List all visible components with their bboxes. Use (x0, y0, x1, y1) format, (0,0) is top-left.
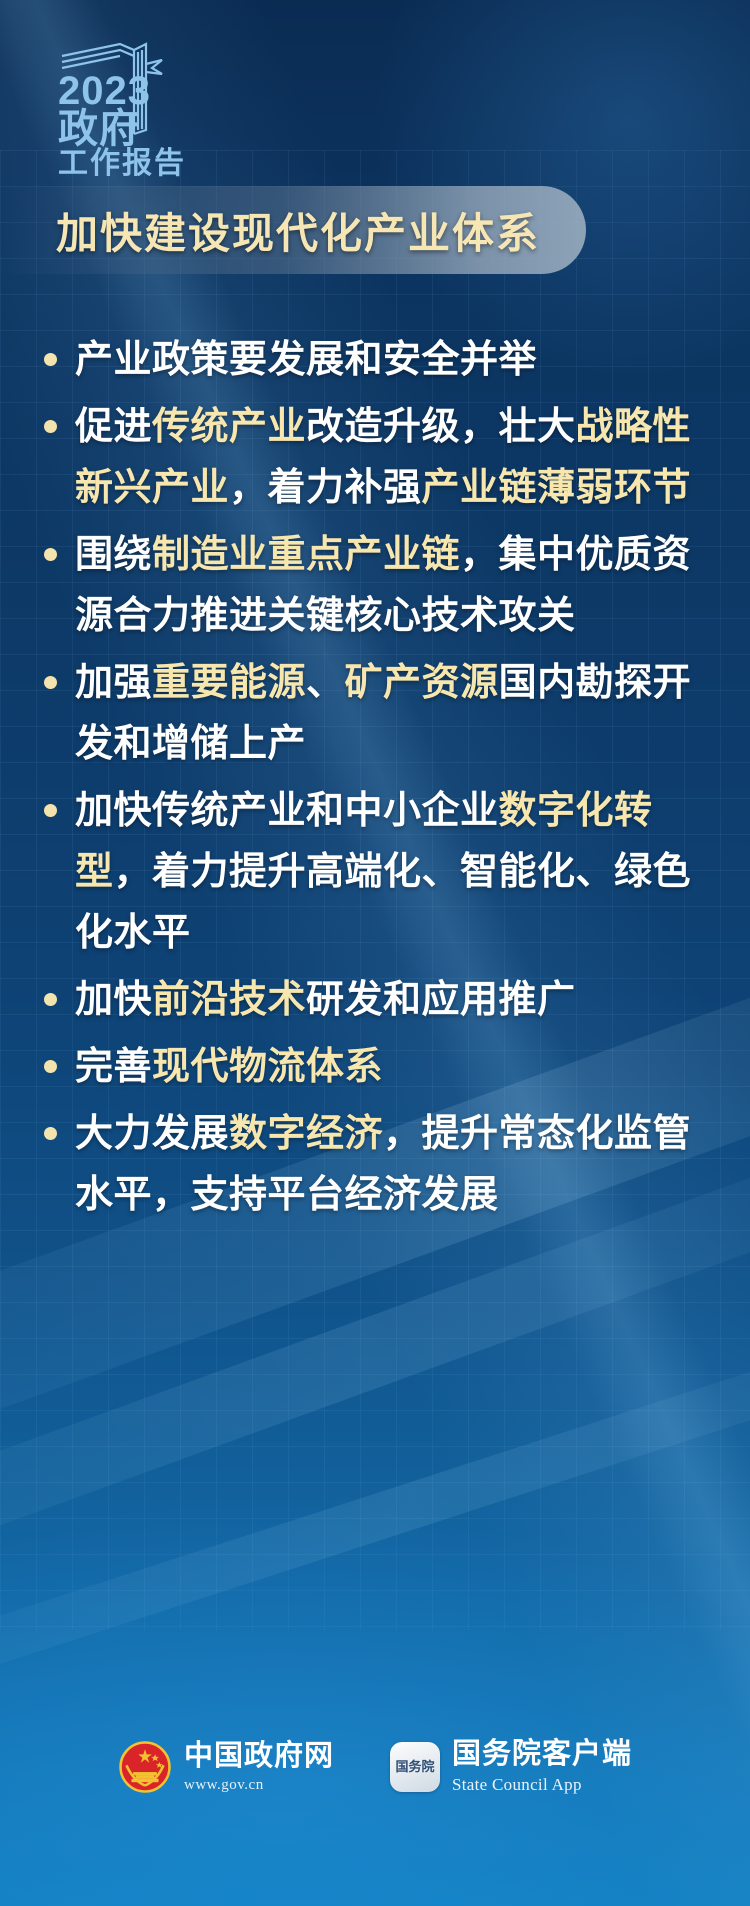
highlighted-text: 矿产资源 (345, 662, 499, 704)
bullet-dot-icon (44, 676, 57, 689)
state-council-app-logo[interactable]: 国务院 国务院客户端 State Council App (390, 1740, 632, 1793)
plain-text: ，着力补强 (229, 467, 422, 509)
plain-text: 围绕 (75, 534, 152, 576)
brand-mark: 2023 政府 工作报告 (34, 34, 254, 154)
list-item: 围绕制造业重点产业链，集中优质资源合力推进关键核心技术攻关 (30, 525, 720, 647)
plain-text: 大力发展 (75, 1113, 229, 1155)
highlighted-text: 数字经济 (229, 1113, 383, 1155)
brand-line2: 工作报告 (58, 138, 186, 182)
list-item-text: 加快传统产业和中小企业数字化转型，着力提升高端化、智能化、绿色化水平 (75, 781, 720, 964)
list-item-text: 加强重要能源、矿产资源国内勘探开发和增储上产 (75, 653, 720, 775)
bullet-list: 产业政策要发展和安全并举促进传统产业改造升级，壮大战略性新兴产业，着力补强产业链… (30, 330, 720, 1232)
state-council-app-icon: 国务院 (390, 1742, 440, 1792)
plain-text: 改造升级，壮大 (306, 406, 576, 448)
highlighted-text: 重要能源 (152, 662, 306, 704)
plain-text: ，着力提升高端化、智能化、绿色化水平 (75, 851, 691, 954)
page-title: 加快建设现代化产业体系 (56, 200, 540, 261)
list-item-text: 促进传统产业改造升级，壮大战略性新兴产业，着力补强产业链薄弱环节 (75, 397, 720, 519)
page-title-band: 加快建设现代化产业体系 (0, 186, 586, 274)
highlighted-text: 产业链薄弱环节 (422, 467, 692, 509)
list-item: 完善现代物流体系 (30, 1037, 720, 1098)
plain-text: 产业政策要发展和安全并举 (75, 339, 537, 381)
list-item-text: 产业政策要发展和安全并举 (75, 330, 720, 391)
highlighted-text: 现代物流体系 (152, 1046, 383, 1088)
plain-text: 加快传统产业和中小企业 (75, 790, 499, 832)
plain-text: 、 (306, 662, 345, 704)
list-item: 促进传统产业改造升级，壮大战略性新兴产业，着力补强产业链薄弱环节 (30, 397, 720, 519)
highlighted-text: 前沿技术 (152, 979, 306, 1021)
app-icon-label: 国务院 (395, 1760, 434, 1773)
plain-text: 加强 (75, 662, 152, 704)
national-emblem-icon (118, 1740, 172, 1794)
bullet-dot-icon (44, 1127, 57, 1140)
bullet-dot-icon (44, 420, 57, 433)
gov-site-url: www.gov.cn (184, 1778, 334, 1793)
bullet-dot-icon (44, 353, 57, 366)
footer: 中国政府网 www.gov.cn 国务院 国务院客户端 State Counci… (0, 1740, 750, 1850)
list-item-text: 围绕制造业重点产业链，集中优质资源合力推进关键核心技术攻关 (75, 525, 720, 647)
plain-text: 加快 (75, 979, 152, 1021)
bullet-dot-icon (44, 804, 57, 817)
list-item: 加快前沿技术研发和应用推广 (30, 970, 720, 1031)
list-item: 加强重要能源、矿产资源国内勘探开发和增储上产 (30, 653, 720, 775)
plain-text: 促进 (75, 406, 152, 448)
plain-text: 完善 (75, 1046, 152, 1088)
highlighted-text: 制造业重点产业链 (152, 534, 460, 576)
book-icon: 2023 政府 (34, 34, 254, 154)
bullet-dot-icon (44, 993, 57, 1006)
highlighted-text: 传统产业 (152, 406, 306, 448)
list-item: 加快传统产业和中小企业数字化转型，着力提升高端化、智能化、绿色化水平 (30, 781, 720, 964)
list-item-text: 加快前沿技术研发和应用推广 (75, 970, 720, 1031)
app-name-en: State Council App (452, 1776, 632, 1793)
gov-logo[interactable]: 中国政府网 www.gov.cn (118, 1740, 334, 1794)
plain-text: 研发和应用推广 (306, 979, 576, 1021)
poster: 2023 政府 工作报告 加快建设现代化产业体系 产业政策要发展和安全并举促进传… (0, 0, 750, 1906)
bullet-dot-icon (44, 548, 57, 561)
list-item: 产业政策要发展和安全并举 (30, 330, 720, 391)
list-item-text: 大力发展数字经济，提升常态化监管水平，支持平台经济发展 (75, 1104, 720, 1226)
gov-site-name: 中国政府网 (184, 1742, 334, 1771)
app-name: 国务院客户端 (452, 1740, 632, 1769)
bullet-dot-icon (44, 1060, 57, 1073)
list-item-text: 完善现代物流体系 (75, 1037, 720, 1098)
list-item: 大力发展数字经济，提升常态化监管水平，支持平台经济发展 (30, 1104, 720, 1226)
